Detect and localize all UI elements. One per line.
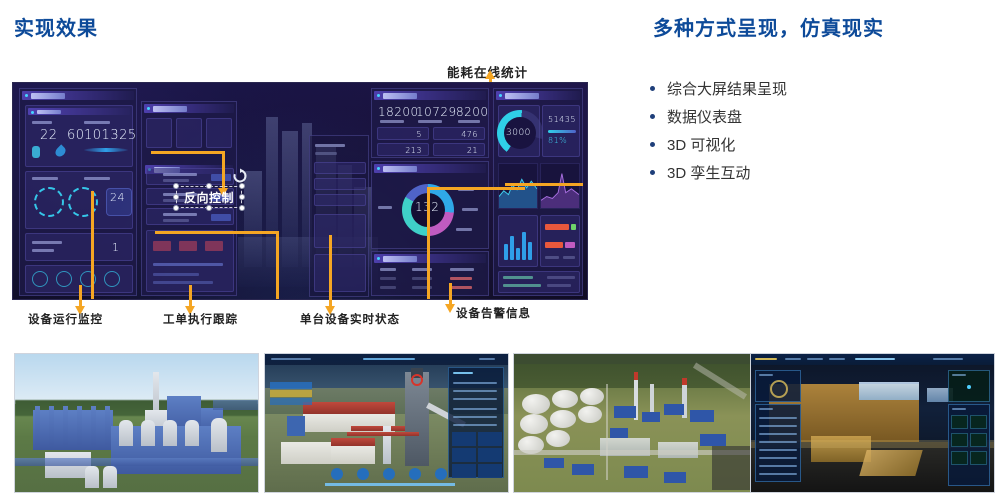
tile-device-counters: 24 xyxy=(25,171,133,229)
resize-handle-ne[interactable] xyxy=(239,183,245,189)
dashboard-screenshot: 22 60 101325 24 1 xyxy=(12,82,588,300)
tile-shortcut-3[interactable] xyxy=(206,118,232,148)
kpi-value-2: 10729 xyxy=(416,105,457,119)
progress-percent: 81% xyxy=(548,136,567,145)
value-temperature: 22 xyxy=(40,128,58,143)
list-item: 数据仪表盘 xyxy=(650,102,990,130)
resize-handle-sw[interactable] xyxy=(173,205,179,211)
photo-plant-3d-render xyxy=(14,353,259,493)
kpi-card-1: 5 xyxy=(377,127,429,140)
kpi-card-3: 213 xyxy=(377,143,429,156)
bullet-dot-icon xyxy=(650,86,655,91)
kpi-card-2: 476 xyxy=(433,127,485,140)
list-item: 3D 孪生互动 xyxy=(650,158,990,186)
connector-line-workorder2-v xyxy=(276,231,279,300)
callout-label-1: 设备运行监控 xyxy=(28,311,103,327)
callout-arrow-3-icon xyxy=(329,285,332,307)
area-chart-right xyxy=(540,163,580,209)
list-item-label: 数据仪表盘 xyxy=(667,106,742,127)
bullet-dot-icon xyxy=(650,170,655,175)
panel-header xyxy=(144,104,234,113)
value-counter-24: 24 xyxy=(110,191,125,204)
tile-gauge: 3000 xyxy=(498,105,540,157)
table-row[interactable] xyxy=(146,208,234,225)
callout-label-4: 设备告警信息 xyxy=(456,305,531,321)
list-item-label: 3D 可视化 xyxy=(667,134,735,155)
panel-header xyxy=(496,91,580,100)
scene-left-panel-top[interactable] xyxy=(755,370,801,402)
kpi-value-3: 8200 xyxy=(456,105,489,119)
callout-arrow-2-icon xyxy=(189,285,192,307)
photo-digital-twin-ui xyxy=(264,353,509,493)
resize-handle-w[interactable] xyxy=(173,194,179,200)
row-action-button[interactable] xyxy=(211,174,231,181)
tile-list xyxy=(498,271,580,293)
tile-shortcut-2[interactable] xyxy=(176,118,202,148)
page-title-left: 实现效果 xyxy=(14,12,98,41)
donut-legend-4 xyxy=(378,206,392,209)
callout-arrow-4-icon xyxy=(449,283,452,305)
callout-label-3: 单台设备实时状态 xyxy=(300,311,400,327)
table-row[interactable] xyxy=(146,168,234,185)
bullet-dot-icon xyxy=(650,142,655,147)
connector-line-energy-h xyxy=(505,183,583,186)
value-counter-1: 1 xyxy=(112,241,120,254)
tile-bar-chart xyxy=(498,215,538,267)
kpi-small-4: 21 xyxy=(467,146,478,155)
area-chart-svg xyxy=(541,164,579,208)
kpi-small-3: 213 xyxy=(405,146,422,155)
photo-indoor-night-scene xyxy=(750,353,995,493)
resize-handle-s[interactable] xyxy=(206,205,212,211)
connector-line-device-monitor xyxy=(91,191,94,300)
tile-alarm-count: 1 xyxy=(25,233,133,261)
kpi-value-1: 18200 xyxy=(378,105,419,119)
scene-right-panel-map[interactable] xyxy=(948,370,990,402)
feature-list: 综合大屏结果呈现 数据仪表盘 3D 可视化 3D 孪生互动 xyxy=(650,74,990,186)
page-title-right: 多种方式呈现，仿真现实 xyxy=(653,12,884,41)
list-item-label: 综合大屏结果呈现 xyxy=(667,78,787,99)
photo-refinery-aerial xyxy=(513,353,758,493)
panel-header xyxy=(374,164,486,173)
connector-line-workorder-h xyxy=(151,151,225,154)
panel-header xyxy=(374,254,486,263)
list-item: 综合大屏结果呈现 xyxy=(650,74,990,102)
panel-header xyxy=(22,91,134,100)
selected-textbox-label: 反向控制 xyxy=(184,189,234,206)
scene-topbar xyxy=(751,354,994,365)
twin-left-menu[interactable] xyxy=(270,382,312,404)
panel-header xyxy=(374,91,486,100)
connector-line-energy-v xyxy=(427,187,430,300)
donut-legend-3 xyxy=(456,228,472,231)
panel-alarm-table xyxy=(371,251,489,296)
list-item-label: 3D 孪生互动 xyxy=(667,162,750,183)
connector-line-energy-h2 xyxy=(427,187,525,190)
gauge-value: 3000 xyxy=(506,128,531,138)
bullet-dot-icon xyxy=(650,114,655,119)
tile-shortcut-1[interactable] xyxy=(146,118,172,148)
tile-flow-diagram xyxy=(146,230,234,292)
value-humidity: 60 xyxy=(67,128,85,143)
tile-heat-legend xyxy=(540,215,580,267)
kpi-card-4: 21 xyxy=(433,143,485,156)
resize-handle-n[interactable] xyxy=(206,183,212,189)
kpi-small-2: 476 xyxy=(461,130,478,139)
resize-handle-se[interactable] xyxy=(239,205,245,211)
panel-device-distribution: 132 xyxy=(371,161,489,249)
callout-arrow-1-icon xyxy=(79,285,82,307)
progress-value: 51435 xyxy=(548,115,576,124)
connector-line-workorder-v xyxy=(222,151,225,189)
resize-handle-nw[interactable] xyxy=(173,183,179,189)
value-pressure: 101325 xyxy=(84,128,137,143)
scene-right-camera-grid[interactable] xyxy=(948,404,990,486)
area-chart-left xyxy=(498,163,538,209)
tile-progress: 51435 81% xyxy=(542,105,580,157)
donut-legend-2 xyxy=(462,208,478,211)
twin-right-panel[interactable] xyxy=(448,367,504,478)
kpi-small-1: 5 xyxy=(416,130,422,139)
row-action-button[interactable] xyxy=(211,214,231,221)
panel-production-kpi: 18200 10729 8200 5 476 213 21 xyxy=(371,88,489,158)
list-item: 3D 可视化 xyxy=(650,130,990,158)
rotate-handle-icon[interactable] xyxy=(232,168,248,184)
callout-label-2: 工单执行跟踪 xyxy=(163,311,238,327)
panel-device-monitor: 22 60 101325 24 1 xyxy=(19,88,137,296)
tile-environment: 22 60 101325 xyxy=(25,105,133,167)
scene-left-panel-list[interactable] xyxy=(755,404,801,482)
connector-line-workorder2-h xyxy=(155,231,279,234)
ring-gauge-1 xyxy=(34,187,64,217)
area-chart-svg xyxy=(499,164,537,208)
panel-asset-detail xyxy=(309,135,369,297)
resize-handle-e[interactable] xyxy=(239,194,245,200)
twin-topbar xyxy=(265,354,508,365)
panel-energy-online: 3000 51435 81% xyxy=(493,88,583,296)
